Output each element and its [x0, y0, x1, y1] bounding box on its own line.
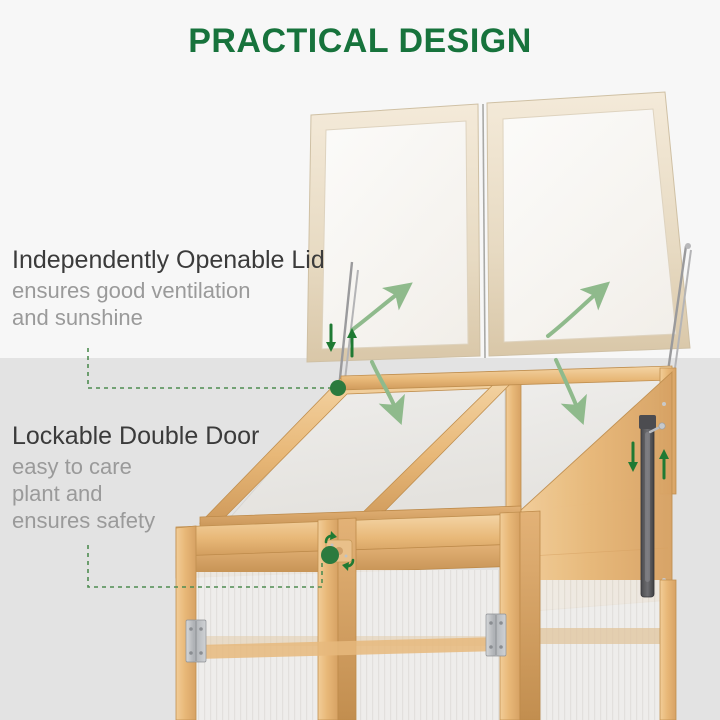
feature-subtext-door: easy to care plant and ensures safety	[12, 454, 259, 534]
door-hinge-right	[486, 614, 506, 656]
door-hinge-left	[186, 620, 206, 662]
feature-heading-door: Lockable Double Door	[12, 422, 259, 450]
feature-subline: plant and	[12, 481, 259, 508]
feature-subline: and sunshine	[12, 305, 325, 332]
lid-centre-seam	[483, 104, 485, 358]
feature-subline: easy to care	[12, 454, 259, 481]
interior-shelf	[524, 628, 672, 644]
left-lid-panel[interactable]	[307, 104, 480, 362]
feature-block-door: Lockable Double Door easy to care plant …	[12, 422, 259, 534]
roof-panel-left	[228, 377, 505, 520]
right-lid-panel[interactable]	[487, 92, 690, 356]
feature-subline: ensures safety	[12, 508, 259, 535]
roof-rail-centre	[506, 371, 521, 513]
product-illustration	[0, 0, 720, 720]
feature-block-lid: Independently Openable Lid ensures good …	[12, 246, 325, 332]
callout-dot-lid	[330, 380, 346, 396]
feature-subline: ensures good ventilation	[12, 278, 325, 305]
infographic-canvas: PRACTICAL DESIGN Independently Openable …	[0, 0, 720, 720]
post-far-right	[660, 580, 676, 720]
feature-heading-lid: Independently Openable Lid	[12, 246, 325, 274]
side-glazing-right	[524, 580, 672, 720]
callout-dot-door	[321, 546, 339, 564]
page-title: PRACTICAL DESIGN	[0, 22, 720, 61]
feature-subtext-lid: ensures good ventilation and sunshine	[12, 278, 325, 332]
post-right	[520, 511, 540, 720]
